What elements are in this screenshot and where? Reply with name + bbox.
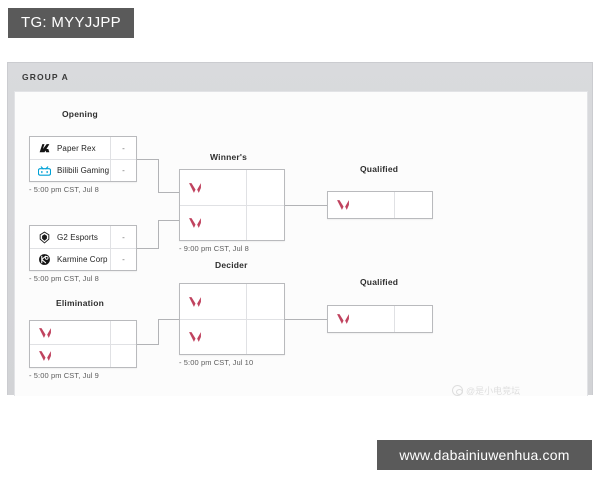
match-row[interactable]: [180, 284, 284, 319]
match-row[interactable]: [328, 192, 432, 218]
valorant-logo: [335, 312, 350, 327]
team-slot[interactable]: [180, 320, 246, 354]
match-time-decider: - 5:00 pm CST, Jul 10: [179, 358, 253, 367]
score-cell: -: [110, 137, 136, 159]
match-elimination[interactable]: [29, 320, 137, 368]
team-slot[interactable]: Karmine Corp: [30, 249, 110, 270]
connector-line: [158, 220, 159, 249]
match-time-opening-2: - 5:00 pm CST, Jul 8: [29, 274, 99, 283]
bilibili-gaming-logo: [37, 163, 52, 178]
team-slot[interactable]: G2 Esports: [30, 226, 110, 248]
connector-line: [285, 319, 327, 320]
score-cell: -: [110, 160, 136, 181]
tg-overlay-label: TG: MYYJJPP: [8, 8, 134, 38]
team-slot[interactable]: [328, 306, 394, 332]
valorant-logo: [187, 330, 202, 345]
team-name: Paper Rex: [57, 144, 96, 153]
valorant-logo: [37, 349, 52, 364]
connector-line: [285, 205, 327, 206]
weibo-icon: [452, 385, 463, 396]
score-cell: [246, 320, 284, 354]
match-row[interactable]: [180, 170, 284, 205]
valorant-logo: [187, 216, 202, 231]
match-row[interactable]: Paper Rex -: [30, 137, 136, 159]
team-name: G2 Esports: [57, 233, 98, 242]
score-cell: [394, 192, 432, 218]
match-opening-2[interactable]: G2 Esports - Karmine Corp: [29, 225, 137, 271]
match-row[interactable]: [180, 205, 284, 240]
team-slot[interactable]: [180, 206, 246, 240]
team-slot[interactable]: [328, 192, 394, 218]
round-title-opening: Opening: [62, 109, 98, 119]
score-cell: -: [110, 226, 136, 248]
match-decider[interactable]: [179, 283, 285, 355]
valorant-logo: [335, 198, 350, 213]
karmine-corp-logo: [37, 252, 52, 267]
round-title-qualified-bottom: Qualified: [360, 277, 398, 287]
valorant-logo: [187, 294, 202, 309]
group-panel: GROUP A Opening Winner's Qualified Elimi…: [7, 62, 593, 395]
score-cell: -: [110, 249, 136, 270]
round-title-winners: Winner's: [210, 152, 247, 162]
valorant-logo: [187, 180, 202, 195]
connector-line: [158, 319, 179, 320]
match-row[interactable]: Bilibili Gaming -: [30, 159, 136, 181]
valorant-logo: [37, 325, 52, 340]
screenshot-root: TG: MYYJJPP GROUP A Opening Winner's Qua…: [0, 0, 600, 480]
team-slot[interactable]: [30, 321, 110, 344]
match-qualified-bottom[interactable]: [327, 305, 433, 333]
weibo-watermark: @是小电竞坛: [452, 384, 520, 397]
match-qualified-top[interactable]: [327, 191, 433, 219]
score-cell: [110, 345, 136, 367]
group-title: GROUP A: [22, 72, 69, 82]
team-slot[interactable]: Bilibili Gaming: [30, 160, 110, 181]
match-row[interactable]: Karmine Corp -: [30, 248, 136, 270]
round-title-qualified-top: Qualified: [360, 164, 398, 174]
group-header: GROUP A: [8, 63, 592, 91]
match-row[interactable]: [30, 321, 136, 344]
match-winners[interactable]: [179, 169, 285, 241]
match-row[interactable]: G2 Esports -: [30, 226, 136, 248]
match-time-elimination: - 5:00 pm CST, Jul 9: [29, 371, 99, 380]
connector-line: [137, 159, 159, 160]
team-slot[interactable]: [30, 345, 110, 367]
match-row[interactable]: [180, 319, 284, 354]
team-name: Bilibili Gaming: [57, 166, 109, 175]
score-cell: [246, 284, 284, 319]
team-slot[interactable]: Paper Rex: [30, 137, 110, 159]
connector-line: [158, 192, 179, 193]
score-cell: [394, 306, 432, 332]
connector-line: [158, 319, 159, 345]
connector-line: [158, 159, 159, 192]
g2-esports-logo: [37, 230, 52, 245]
match-time-opening-1: - 5:00 pm CST, Jul 8: [29, 185, 99, 194]
match-time-winners: - 9:00 pm CST, Jul 8: [179, 244, 249, 253]
team-slot[interactable]: [180, 170, 246, 205]
match-row[interactable]: [30, 344, 136, 367]
connector-line: [137, 248, 159, 249]
site-watermark: www.dabainiuwenhua.com: [377, 440, 592, 470]
connector-line: [158, 220, 179, 221]
match-opening-1[interactable]: Paper Rex -: [29, 136, 137, 182]
match-row[interactable]: [328, 306, 432, 332]
round-title-decider: Decider: [215, 260, 248, 270]
round-title-elimination: Elimination: [56, 298, 104, 308]
paper-rex-logo: [37, 141, 52, 156]
team-name: Karmine Corp: [57, 255, 108, 264]
connector-line: [137, 344, 159, 345]
weibo-watermark-text: @是小电竞坛: [466, 384, 520, 397]
score-cell: [246, 170, 284, 205]
team-slot[interactable]: [180, 284, 246, 319]
score-cell: [110, 321, 136, 344]
score-cell: [246, 206, 284, 240]
bracket-canvas: Opening Winner's Qualified Elimination D…: [14, 91, 588, 396]
